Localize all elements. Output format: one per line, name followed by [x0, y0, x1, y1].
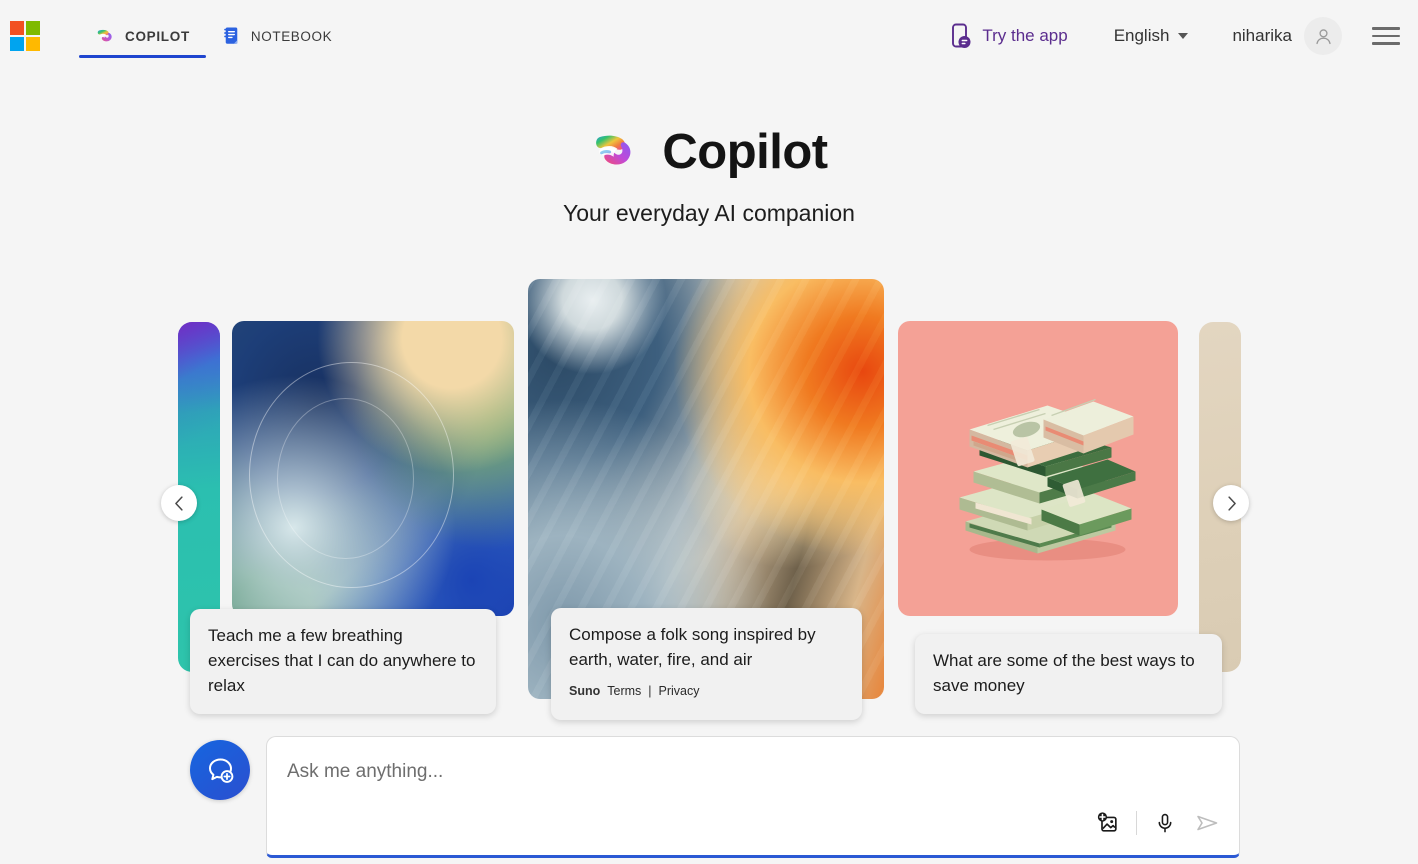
app-header: COPILOT NOTEBOOK	[0, 0, 1418, 72]
hamburger-line-3	[1372, 42, 1400, 45]
microphone-icon	[1154, 812, 1176, 834]
chevron-down-icon	[1178, 33, 1188, 39]
microsoft-logo[interactable]	[10, 21, 40, 51]
card-thumbnail-breathing	[232, 321, 514, 616]
new-chat-button[interactable]	[190, 740, 250, 800]
card-prompt-save-money[interactable]: What are some of the best ways to save m…	[915, 634, 1222, 714]
composer-icon-group	[1094, 809, 1221, 837]
try-the-app-label: Try the app	[982, 26, 1067, 46]
send-button[interactable]	[1193, 809, 1221, 837]
prompt-carousel: Teach me a few breathing exercises that …	[0, 279, 1418, 704]
chat-input-container[interactable]: Ask me anything...	[266, 736, 1240, 858]
card-prompt-text: Teach me a few breathing exercises that …	[208, 623, 478, 698]
card-prompt-folk-song[interactable]: Compose a folk song inspired by earth, w…	[551, 608, 862, 720]
microphone-button[interactable]	[1151, 809, 1179, 837]
card-prompt-text: What are some of the best ways to save m…	[933, 648, 1204, 698]
hero-subtitle: Your everyday AI companion	[0, 200, 1418, 227]
microsoft-logo-square-yellow	[26, 37, 40, 51]
microsoft-logo-square-green	[26, 21, 40, 35]
language-selector[interactable]: English	[1114, 26, 1189, 46]
chevron-right-icon	[1222, 494, 1241, 513]
user-name-label: niharika	[1232, 26, 1292, 46]
copilot-logo-icon	[590, 126, 642, 178]
avatar[interactable]	[1304, 17, 1342, 55]
microsoft-logo-square-blue	[10, 37, 24, 51]
hamburger-line-2	[1372, 35, 1400, 38]
page-title: Copilot	[662, 124, 827, 180]
language-label: English	[1114, 26, 1170, 46]
terms-link[interactable]: Terms	[607, 679, 641, 704]
tab-notebook[interactable]: NOTEBOOK	[206, 0, 348, 72]
carousel-next-button[interactable]	[1213, 485, 1249, 521]
carousel-prev-button[interactable]	[161, 485, 197, 521]
composer-divider	[1136, 811, 1137, 835]
hero-section: Copilot Your everyday AI companion	[0, 124, 1418, 227]
try-the-app-button[interactable]: Try the app	[949, 23, 1067, 49]
new-chat-bubble-icon	[204, 754, 236, 786]
attribution-brand: Suno	[569, 679, 600, 704]
tab-copilot-label: COPILOT	[125, 29, 190, 44]
card-attribution: Suno Terms | Privacy	[569, 679, 844, 704]
phone-chat-icon	[949, 23, 973, 49]
chevron-left-icon	[170, 494, 189, 513]
cash-stack-illustration	[936, 382, 1141, 567]
user-account-button[interactable]: niharika	[1232, 17, 1342, 55]
main-nav-tabs: COPILOT NOTEBOOK	[79, 0, 348, 72]
notebook-icon	[222, 26, 241, 46]
add-image-icon	[1096, 811, 1120, 835]
header-right-controls: Try the app English niharika	[949, 0, 1404, 72]
card-thumbnail-save-money	[898, 321, 1178, 616]
tab-notebook-label: NOTEBOOK	[251, 29, 332, 44]
hamburger-menu-icon[interactable]	[1372, 27, 1400, 45]
send-icon	[1195, 811, 1219, 835]
card-prompt-breathing[interactable]: Teach me a few breathing exercises that …	[190, 609, 496, 714]
attribution-separator: |	[648, 679, 651, 704]
copilot-icon	[95, 26, 115, 46]
microsoft-logo-square-red	[10, 21, 24, 35]
tab-copilot[interactable]: COPILOT	[79, 0, 206, 72]
hero-title-row: Copilot	[0, 124, 1418, 180]
hamburger-line-1	[1372, 27, 1400, 30]
carousel-card-breathing[interactable]	[232, 321, 514, 616]
privacy-link[interactable]: Privacy	[659, 679, 700, 704]
add-image-button[interactable]	[1094, 809, 1122, 837]
card-prompt-text: Compose a folk song inspired by earth, w…	[569, 622, 844, 672]
chat-input-placeholder: Ask me anything...	[287, 761, 443, 783]
carousel-card-save-money[interactable]	[898, 321, 1178, 616]
